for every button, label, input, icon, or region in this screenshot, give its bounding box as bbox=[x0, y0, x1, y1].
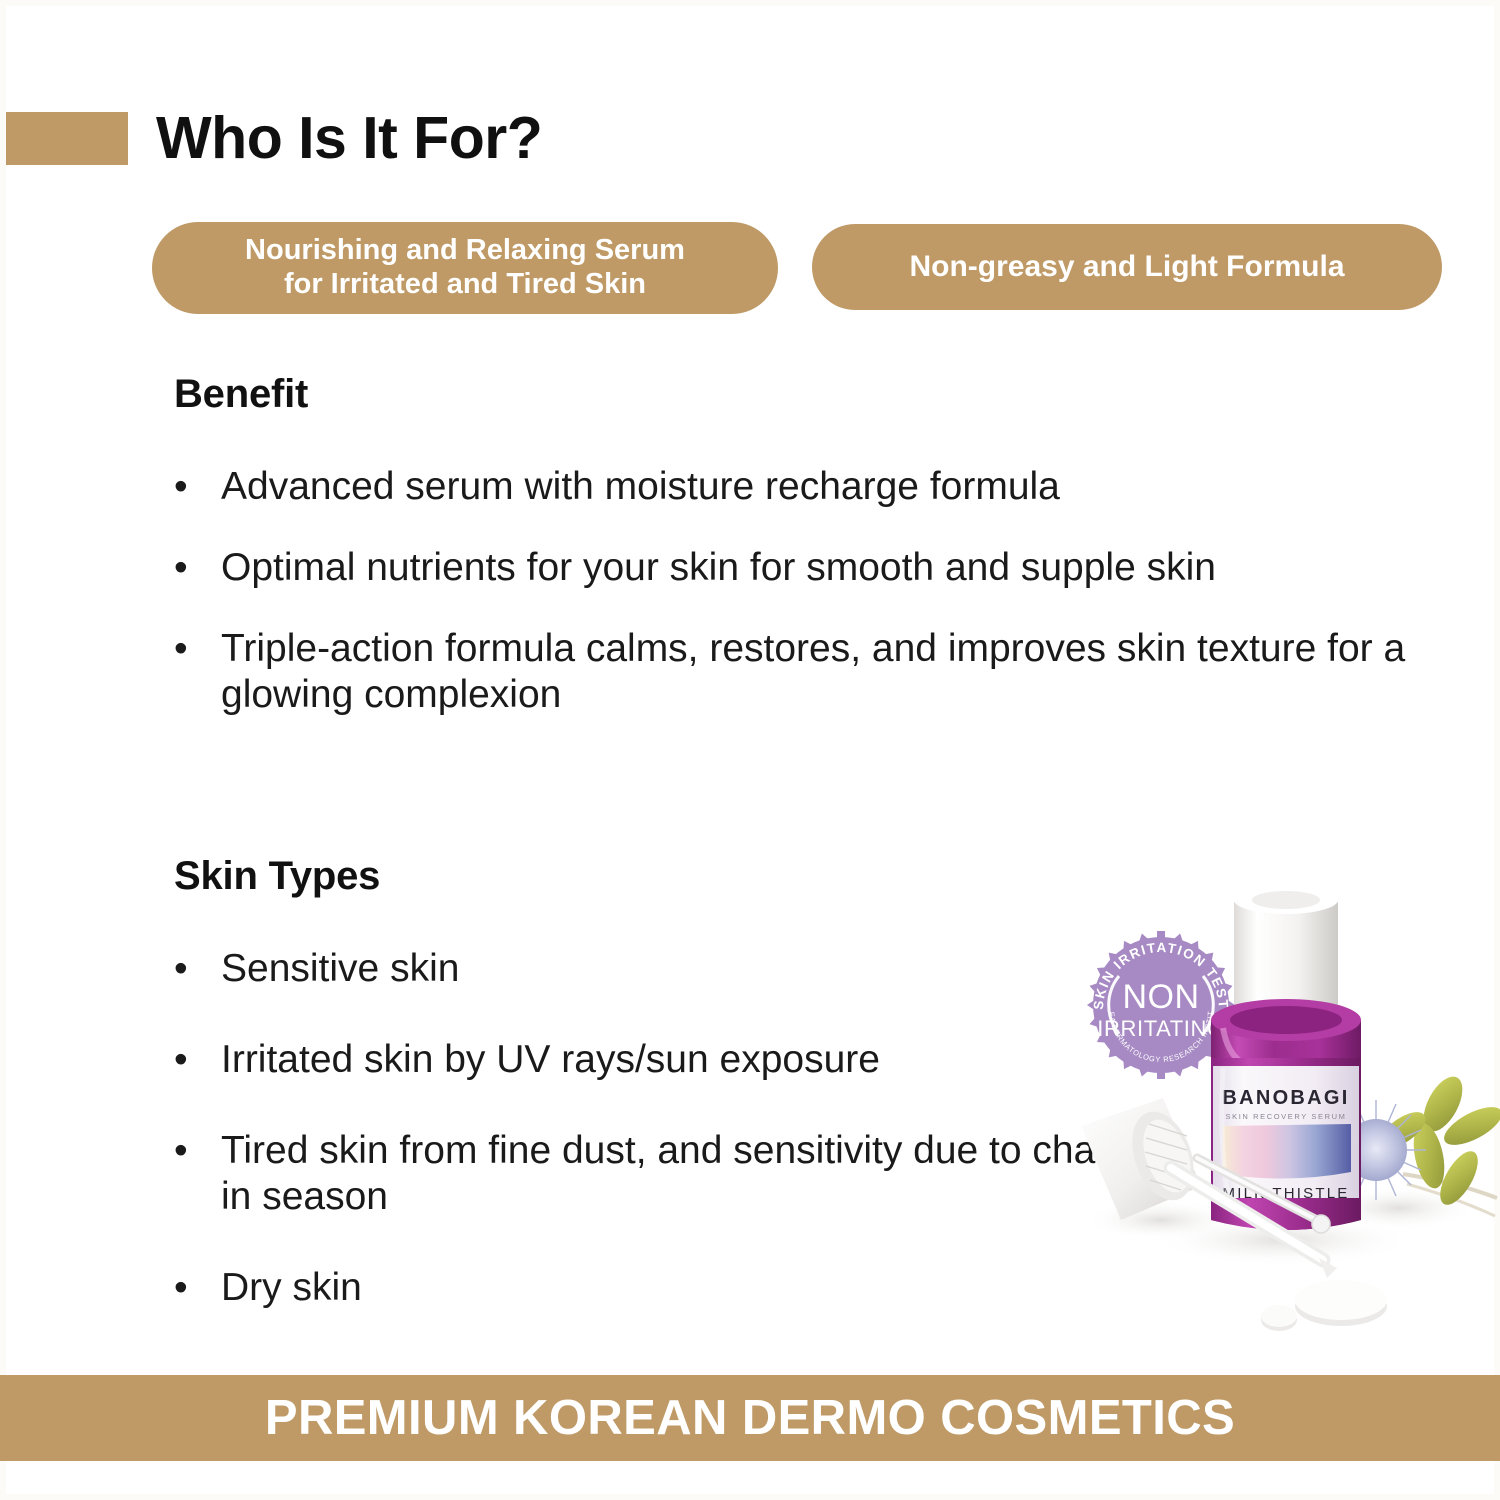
footer-label: PREMIUM KOREAN DERMO COSMETICS bbox=[265, 1390, 1235, 1446]
list-item-label: Triple-action formula calms, restores, a… bbox=[221, 626, 1444, 716]
feature-pill-label: Nourishing and Relaxing Serumfor Irritat… bbox=[245, 234, 685, 301]
non-irritating-badge-icon: SKIN IRRITATION TEST KOREA DERMATOLOGY R… bbox=[1051, 868, 1235, 1079]
list-item: • Optimal nutrients for your skin for sm… bbox=[174, 545, 1444, 590]
benefit-bullet-list: • Advanced serum with moisture recharge … bbox=[174, 464, 1444, 753]
page-header: Who Is It For? bbox=[6, 105, 766, 171]
skin-types-bullet-list: • Sensitive skin • Irritated skin by UV … bbox=[174, 946, 1174, 1356]
product-photo: SKIN IRRITATION TEST KOREA DERMATOLOGY R… bbox=[1051, 868, 1500, 1368]
section-heading-skin-types: Skin Types bbox=[174, 854, 380, 899]
list-item-label: Tired skin from fine dust, and sensitivi… bbox=[221, 1128, 1174, 1218]
list-item: • Sensitive skin bbox=[174, 946, 1174, 991]
list-item: • Irritated skin by UV rays/sun exposure bbox=[174, 1037, 1174, 1082]
bullet-dot-icon: • bbox=[174, 946, 221, 991]
section-heading-benefit: Benefit bbox=[174, 372, 308, 417]
feature-pill-nourishing: Nourishing and Relaxing Serumfor Irritat… bbox=[152, 222, 778, 314]
badge-center-line2: IRRITATING bbox=[1097, 1016, 1224, 1041]
bullet-dot-icon: • bbox=[174, 545, 221, 590]
list-item: • Triple-action formula calms, restores,… bbox=[174, 626, 1444, 716]
bottle-pump-cap bbox=[1234, 886, 1338, 1013]
list-item-label: Advanced serum with moisture recharge fo… bbox=[221, 464, 1444, 509]
page-title: Who Is It For? bbox=[156, 109, 542, 168]
badge-center-line1: NON bbox=[1122, 978, 1199, 1016]
feature-pill-non-greasy: Non-greasy and Light Formula bbox=[812, 224, 1442, 310]
list-item-label: Irritated skin by UV rays/sun exposure bbox=[221, 1037, 1174, 1082]
accent-bar-decoration bbox=[6, 112, 128, 165]
list-item-label: Sensitive skin bbox=[221, 946, 1174, 991]
bullet-dot-icon: • bbox=[174, 464, 221, 509]
bullet-dot-icon: • bbox=[174, 1128, 221, 1173]
feature-pill-row: Nourishing and Relaxing Serumfor Irritat… bbox=[152, 222, 1442, 314]
list-item: • Dry skin bbox=[174, 1265, 1174, 1310]
list-item: • Tired skin from fine dust, and sensiti… bbox=[174, 1128, 1174, 1218]
bullet-dot-icon: • bbox=[174, 1037, 221, 1082]
bullet-dot-icon: • bbox=[174, 626, 221, 671]
list-item-label: Optimal nutrients for your skin for smoo… bbox=[221, 545, 1444, 590]
list-item-label: Dry skin bbox=[221, 1265, 1174, 1310]
bottle-brand-label: BANOBAGI bbox=[1222, 1087, 1349, 1109]
feature-pill-label: Non-greasy and Light Formula bbox=[909, 250, 1344, 285]
infographic-page: Who Is It For? Nourishing and Relaxing S… bbox=[0, 0, 1500, 1500]
bottle-brand-sublabel: SKIN RECOVERY SERUM bbox=[1226, 1112, 1347, 1121]
list-item: • Advanced serum with moisture recharge … bbox=[174, 464, 1444, 509]
accessory-discs bbox=[1261, 1280, 1387, 1331]
bullet-dot-icon: • bbox=[174, 1265, 221, 1310]
footer-banner: PREMIUM KOREAN DERMO COSMETICS bbox=[0, 1375, 1500, 1461]
bottle-watercolor-swatch bbox=[1223, 1124, 1351, 1179]
